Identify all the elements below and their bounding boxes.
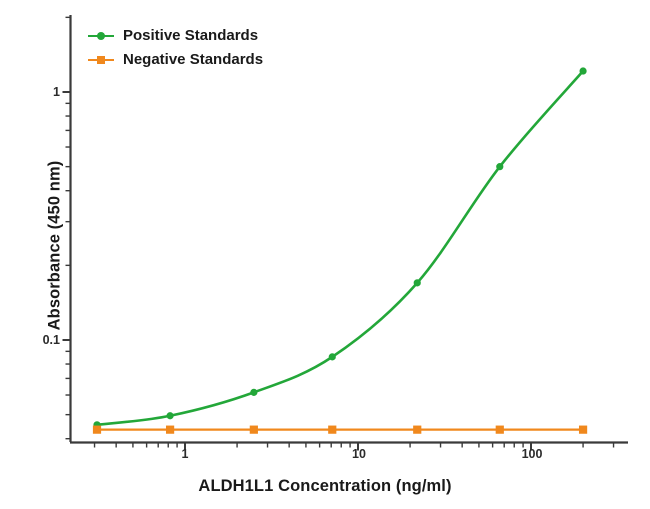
data-point xyxy=(166,426,173,433)
legend-marker-positive-icon xyxy=(88,29,114,43)
legend-marker-negative-icon xyxy=(88,53,114,67)
legend-item-positive-standards[interactable]: Positive Standards xyxy=(88,27,263,45)
data-point xyxy=(580,68,586,74)
data-point xyxy=(497,164,503,170)
series-negative-standards xyxy=(93,426,586,433)
x-tick-label-100: 100 xyxy=(502,447,562,461)
data-point xyxy=(414,426,421,433)
y-axis-title: Absorbance (450 nm) xyxy=(46,96,65,396)
chart-legend: Positive Standards Negative Standards xyxy=(88,27,263,69)
data-point xyxy=(93,426,100,433)
legend-label-negative: Negative Standards xyxy=(123,52,263,68)
legend-label-positive: Positive Standards xyxy=(123,28,258,44)
data-series-layer xyxy=(93,68,586,433)
data-point xyxy=(329,354,335,360)
x-tick-label-10: 10 xyxy=(329,447,389,461)
series-line xyxy=(97,71,583,425)
y-tick-label-1: 1 xyxy=(0,85,60,99)
axis-lines xyxy=(70,15,628,443)
y-tick-label-0-1: 0.1 xyxy=(0,333,60,347)
data-point xyxy=(579,426,586,433)
x-tick-label-1: 1 xyxy=(155,447,215,461)
data-point xyxy=(167,413,173,419)
data-point xyxy=(329,426,336,433)
data-point xyxy=(414,280,420,286)
data-point xyxy=(250,426,257,433)
plot-area xyxy=(0,0,650,509)
chart-figure: Absorbance (450 nm) ALDH1L1 Concentratio… xyxy=(0,0,650,509)
data-point xyxy=(496,426,503,433)
legend-item-negative-standards[interactable]: Negative Standards xyxy=(88,51,263,69)
series-positive-standards xyxy=(94,68,586,428)
x-axis-title: ALDH1L1 Concentration (ng/ml) xyxy=(0,477,650,496)
data-point xyxy=(251,389,257,395)
